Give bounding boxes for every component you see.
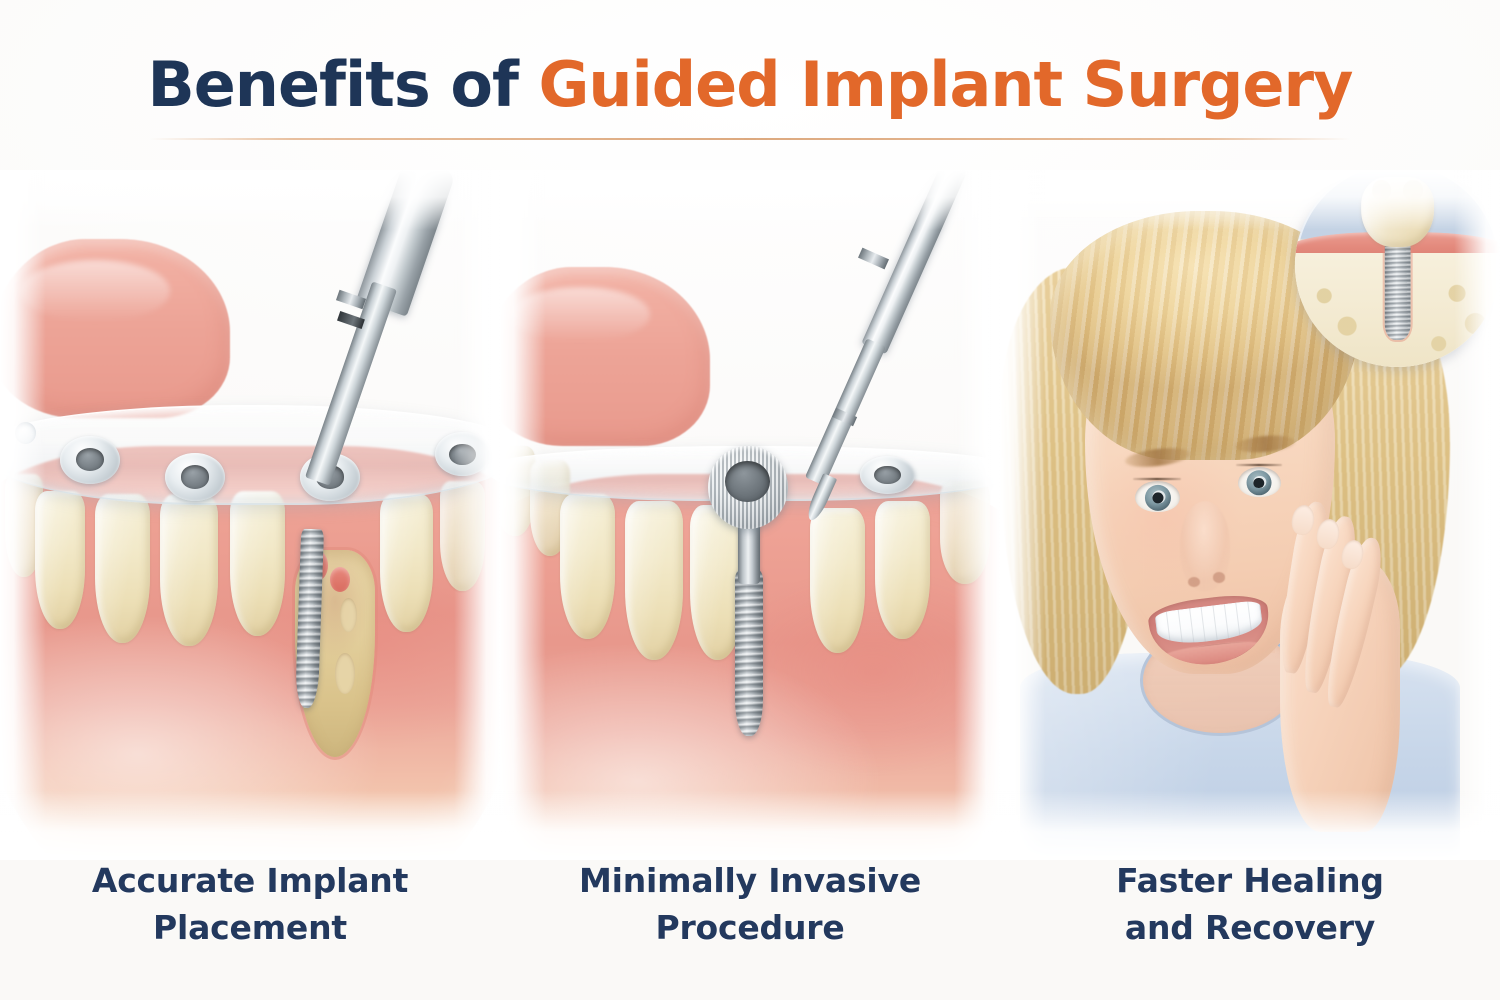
tooth-back-right [440,481,485,591]
page-title-orange-part: Guided Implant Surgery [539,48,1353,121]
tooth-1 [35,491,85,629]
tooth-2 [95,494,150,642]
iris-right [1247,471,1272,496]
white-teeth [1155,599,1264,647]
panel-row [0,170,1500,860]
caption-row: Accurate Implant Placement Minimally Inv… [0,858,1500,988]
guide-sleeve-4 [435,432,490,476]
tooth-4 [810,508,865,653]
jaw-highlight [20,260,170,322]
caption-accurate-placement: Accurate Implant Placement [0,858,500,988]
tooth-4 [230,491,285,636]
tooth-2 [625,501,683,660]
guide-sleeve-1 [60,436,120,484]
guide-sleeve-2 [165,453,225,501]
bone-marrow-space-2 [335,653,355,694]
caption-line-1: Minimally Invasive [500,858,1000,905]
eye-left [1135,481,1180,513]
tooth-back-right [940,481,990,585]
nostril-right [1213,572,1225,582]
caption-line-2: and Recovery [1000,905,1500,952]
illustration-smiling-patient [1000,170,1500,860]
inset-implant-screw [1384,238,1411,340]
caption-line-1: Faster Healing [1000,858,1500,905]
implant-mount-collar [708,446,788,529]
bone-marrow-space-1 [340,598,357,633]
driver-joint-band [858,247,889,269]
tooth-1 [560,494,615,639]
title-divider-rule [150,138,1350,140]
tooth-5 [380,494,433,632]
infographic-page: Benefits of Guided Implant Surgery [0,0,1500,1000]
page-title-navy-part: Benefits of [148,48,539,121]
caption-line-2: Placement [0,905,500,952]
iris-left [1144,485,1170,511]
tooth-3 [160,494,218,646]
panel-minimally-invasive[interactable] [500,170,1000,860]
caption-faster-healing: Faster Healing and Recovery [1000,858,1500,988]
illustration-guided-drilling [0,170,500,860]
caption-minimally-invasive: Minimally Invasive Procedure [500,858,1000,988]
eyelash-left [1133,478,1181,480]
caption-line-1: Accurate Implant [0,858,500,905]
page-title: Benefits of Guided Implant Surgery [0,52,1500,117]
inset-crown-tooth [1361,177,1435,246]
eyelash-right [1236,464,1282,466]
dental-implant-screw [735,570,763,736]
caption-line-2: Procedure [500,905,1000,952]
guide-anchor-hole [15,422,36,444]
gum-flap-tissue-2 [330,567,350,592]
page-title-wrap: Benefits of Guided Implant Surgery [0,52,1500,117]
panel-faster-healing[interactable] [1000,170,1500,860]
tooth-5 [875,501,930,639]
panel-accurate-placement[interactable] [0,170,500,860]
illustration-minimally-invasive [500,170,1000,860]
nostril-left [1188,577,1200,587]
implant-cross-section-inset [1295,170,1500,367]
eye-right [1238,467,1281,497]
